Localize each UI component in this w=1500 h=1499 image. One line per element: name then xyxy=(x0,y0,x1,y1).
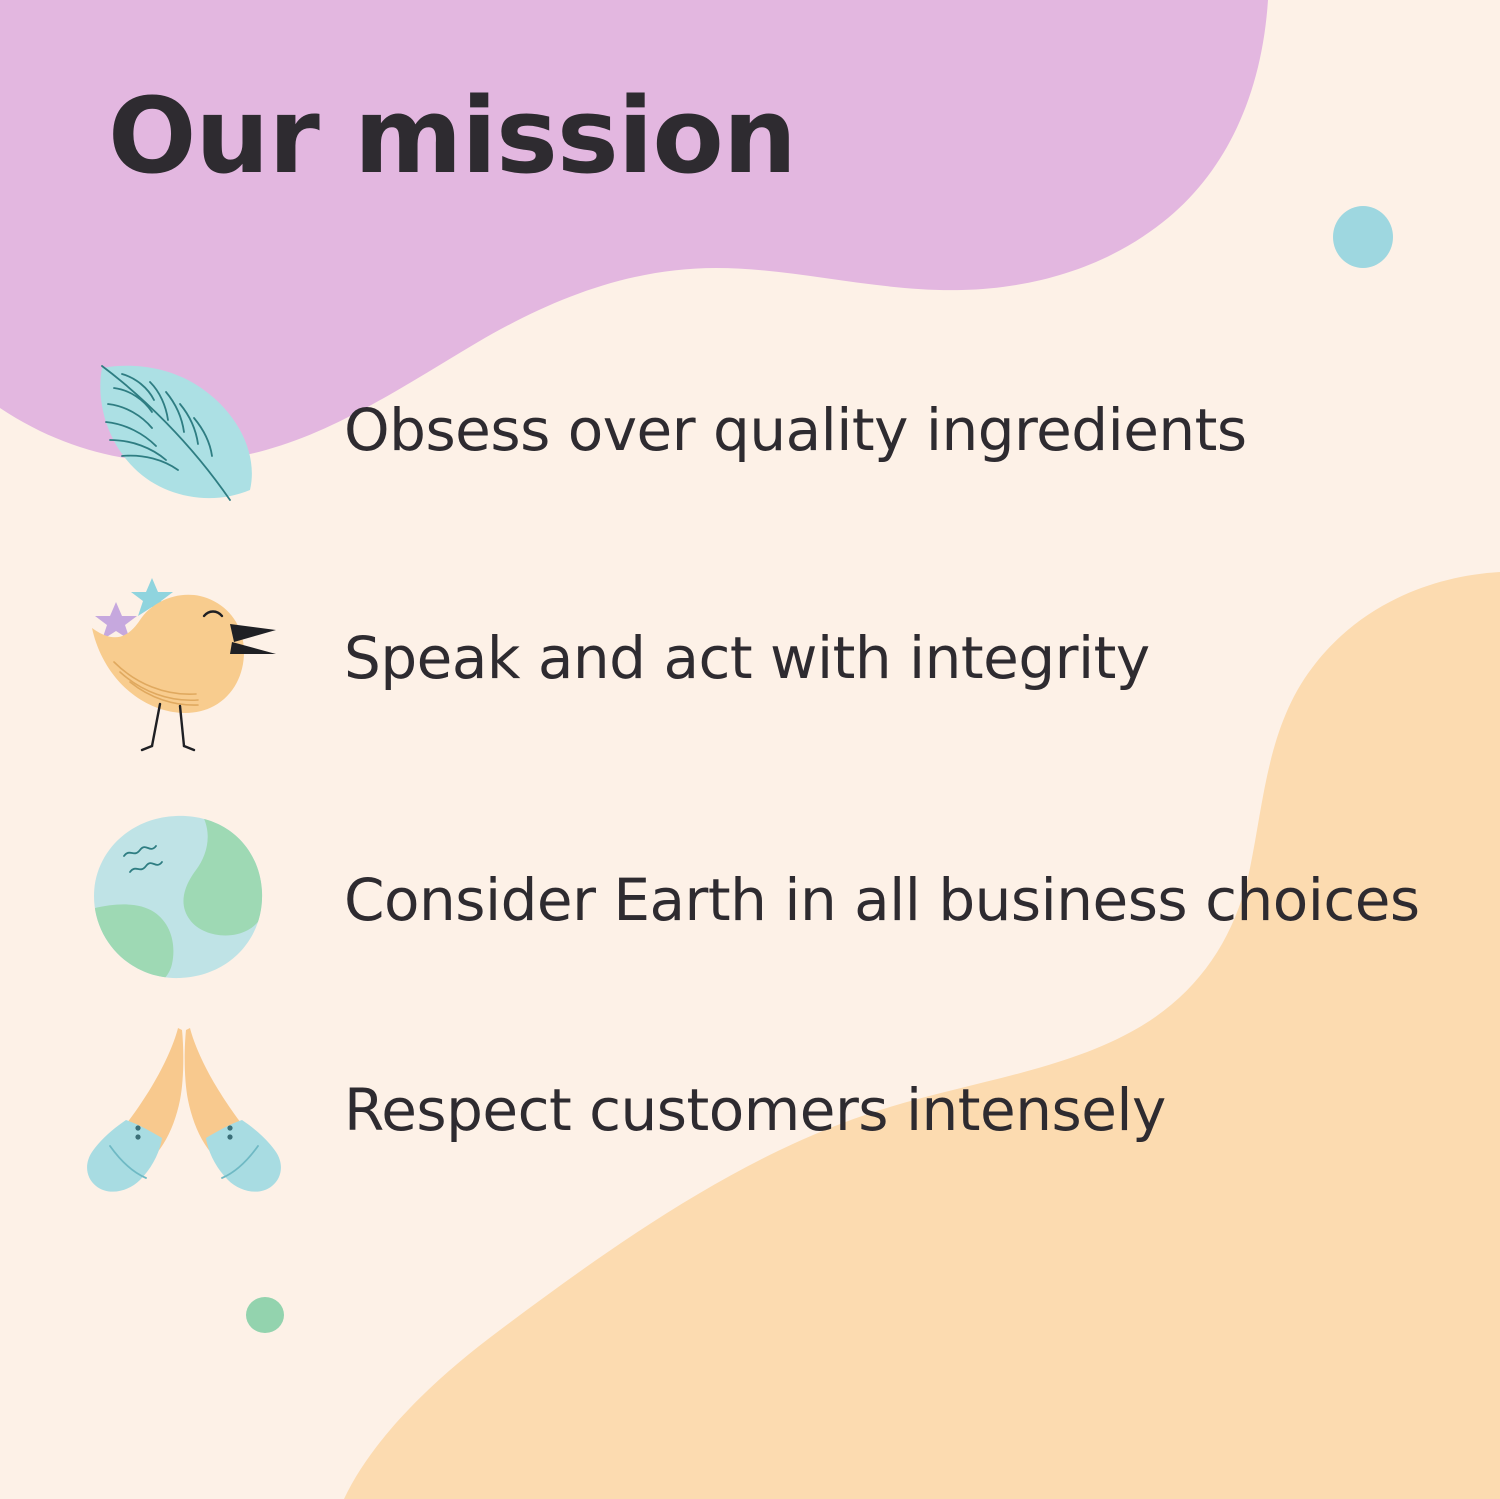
earth-globe-icon xyxy=(80,800,290,1000)
earth-globe-icon-wrapper xyxy=(80,800,290,1000)
mission-item-0: Obsess over quality ingredients xyxy=(80,330,1480,530)
bird-icon xyxy=(80,558,290,758)
mission-item-label: Obsess over quality ingredients xyxy=(344,396,1247,464)
leaf-icon-wrapper xyxy=(80,330,290,530)
praying-hands-icon xyxy=(80,1010,290,1210)
mission-list: Obsess over quality ingredients xyxy=(0,0,1500,1499)
mission-item-2: Consider Earth in all business choices xyxy=(80,800,1480,1000)
mission-item-label: Respect customers intensely xyxy=(344,1076,1166,1144)
mission-item-label: Consider Earth in all business choices xyxy=(344,866,1420,934)
mission-item-label: Speak and act with integrity xyxy=(344,624,1150,692)
praying-hands-icon-wrapper xyxy=(80,1010,290,1210)
leaf-icon xyxy=(80,330,290,530)
mission-poster: Our mission xyxy=(0,0,1500,1499)
mission-item-1: Speak and act with integrity xyxy=(80,558,1480,758)
mission-item-3: Respect customers intensely xyxy=(80,1010,1480,1210)
bird-icon-wrapper xyxy=(80,558,290,758)
